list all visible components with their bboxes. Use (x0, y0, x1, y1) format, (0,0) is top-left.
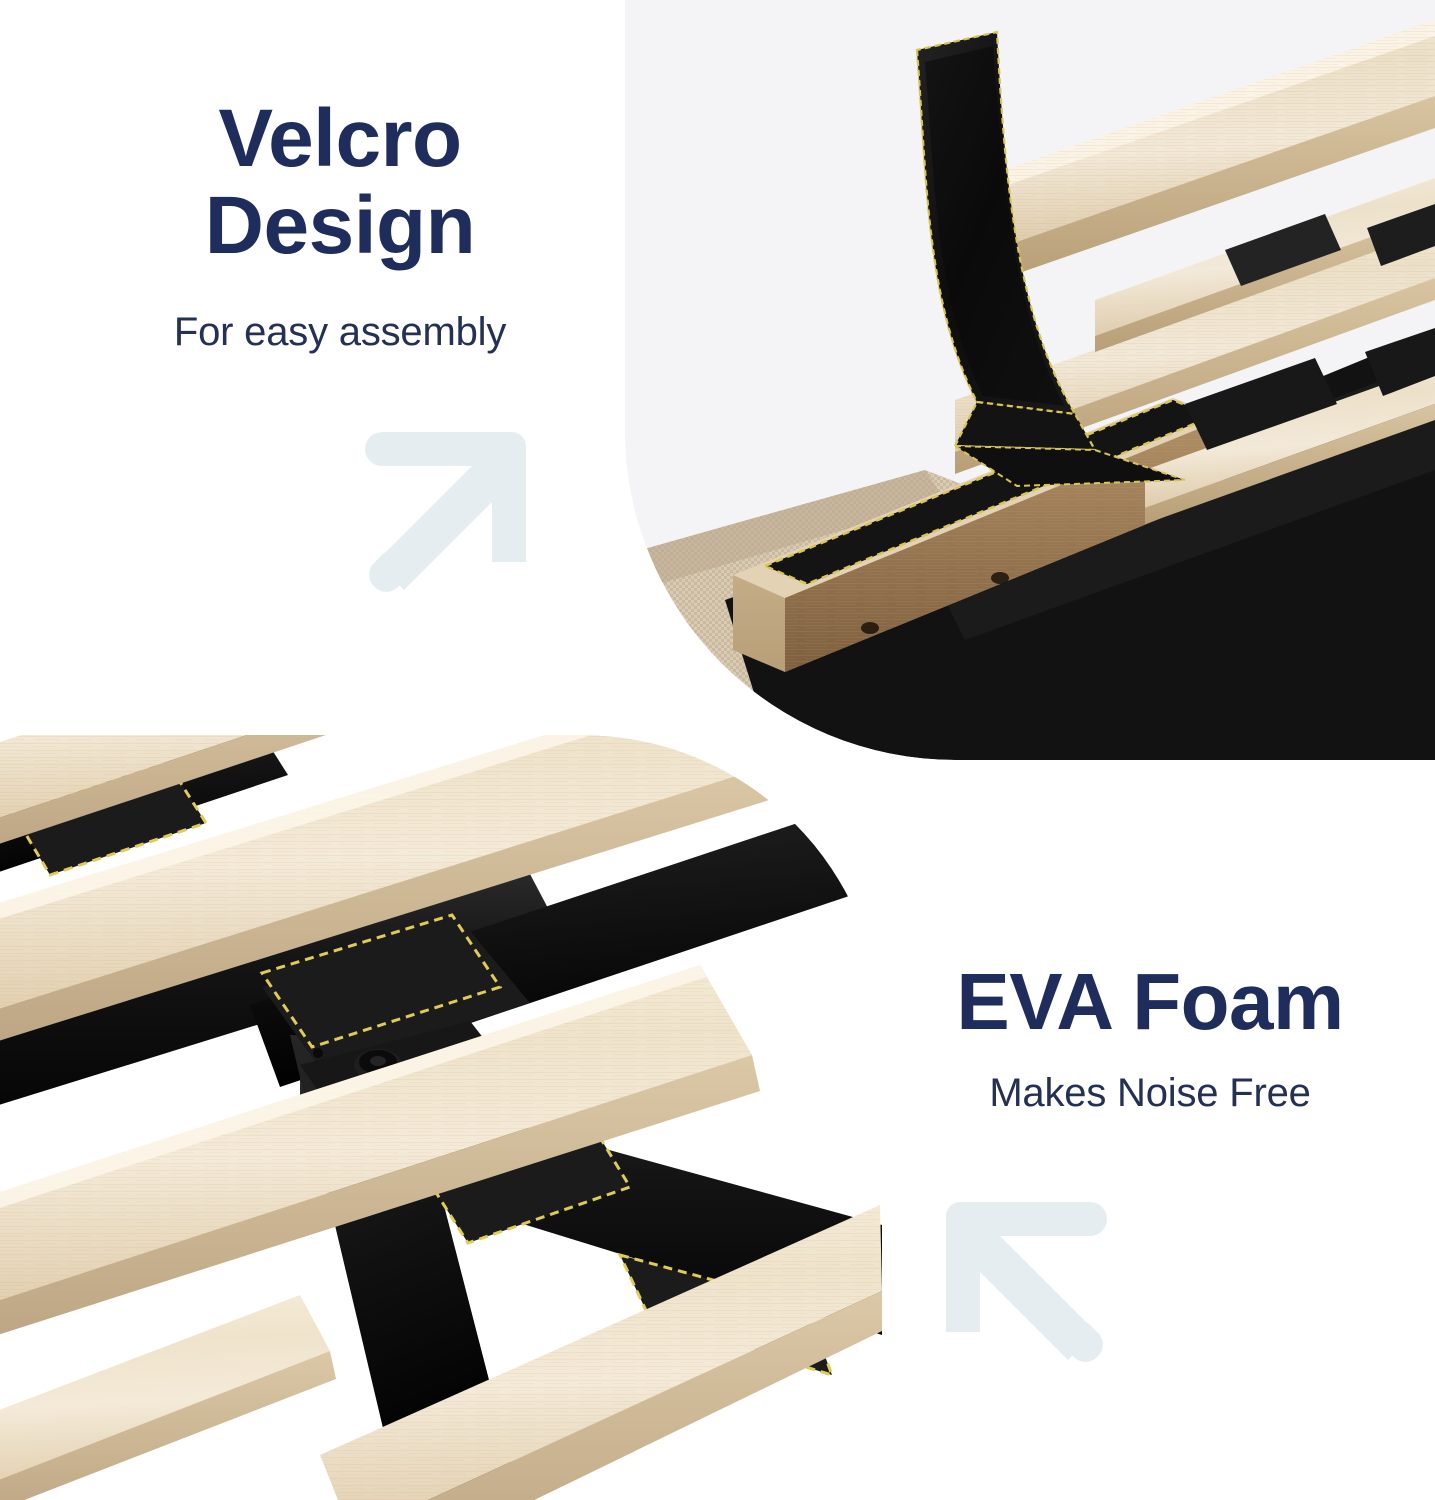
photo-panel-eva-foam (0, 735, 882, 1500)
velcro-headline: Velcro Design (60, 96, 620, 270)
eva-foam-photo-illustration (0, 735, 882, 1500)
eva-foam-copy-block: EVA Foam Makes Noise Free (880, 960, 1420, 1116)
velcro-photo-illustration (625, 0, 1435, 760)
velcro-headline-line2: Design (60, 183, 620, 270)
photo-panel-velcro (625, 0, 1435, 760)
eva-foam-headline: EVA Foam (880, 960, 1420, 1045)
velcro-copy-block: Velcro Design For easy assembly (60, 96, 620, 355)
velcro-headline-line1: Velcro (60, 96, 620, 183)
arrow-up-left-icon (930, 1182, 1120, 1364)
eva-foam-headline-line1: EVA Foam (880, 960, 1420, 1045)
eva-foam-subline: Makes Noise Free (880, 1071, 1420, 1116)
arrow-up-right-icon (352, 412, 542, 592)
infographic-stage: Velcro Design For easy assembly EVA Foam… (0, 0, 1435, 1500)
velcro-subline: For easy assembly (60, 310, 620, 355)
